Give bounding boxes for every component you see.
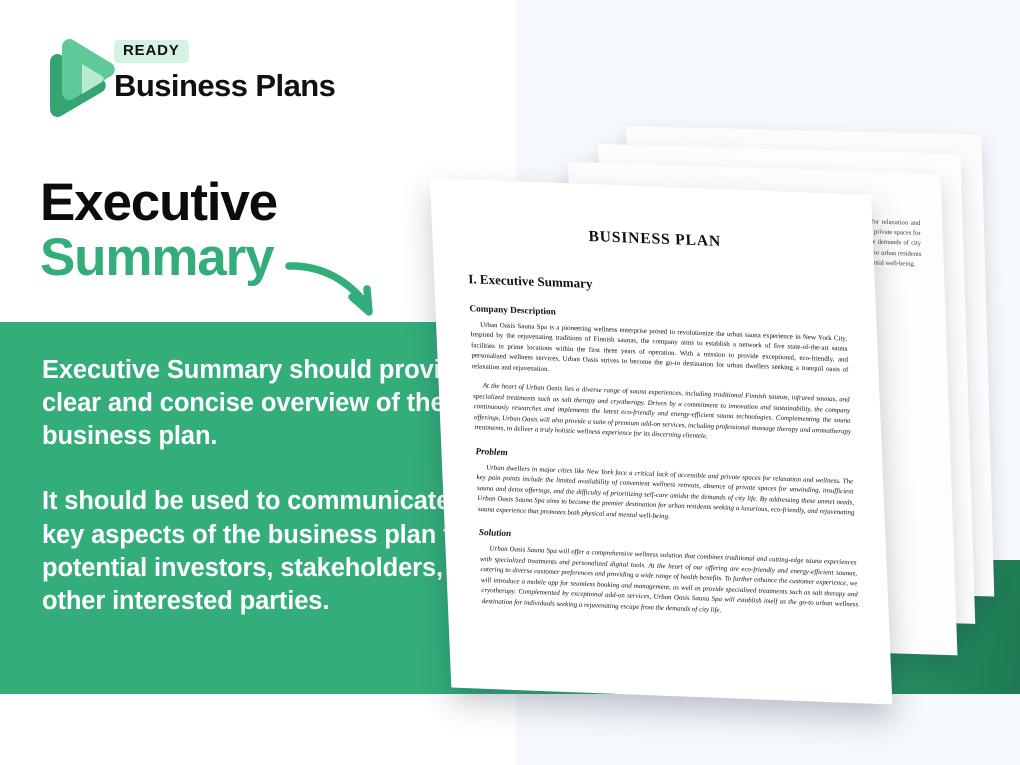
brand-logo-text: READY Business Plans [114,40,335,102]
page-title-line-2: Summary [40,231,277,284]
document-page-content: BUSINESS PLAN I. Executive Summary Compa… [430,178,892,704]
document-paragraph: Urban dwellers in major cities like New … [476,463,855,530]
page-title-line-1: Executive [40,176,277,229]
summary-paragraph-1: Executive Summary should provide a clear… [42,354,497,453]
document-subsection-problem: Problem Urban dwellers in major cities l… [475,446,855,530]
curved-down-right-arrow-icon [283,252,403,332]
business-plan-document-stack[interactable]: Urban Oasis Sauna Spa is a pioneering we… [430,70,1020,710]
document-subsection-solution: Solution Urban Oasis Sauna Spa will offe… [479,527,859,621]
document-subsection-company-description: Company Description Urban Oasis Sauna Sp… [469,303,851,448]
summary-paragraph-2: It should be used to communicate the key… [42,485,497,618]
play-triangle-logo-icon [40,38,116,120]
document-paragraph: Urban Oasis Sauna Spa will offer a compr… [479,544,859,621]
document-paragraph: Urban Oasis Sauna Spa is a pioneering we… [470,320,849,387]
slide-canvas: READY Business Plans Executive Summary E… [0,0,1020,765]
document-paragraph: At the heart of Urban Oasis lies a diver… [473,382,852,449]
brand-logo[interactable]: READY Business Plans [40,36,460,122]
ready-badge: READY [114,40,189,63]
page-title: Executive Summary [40,176,277,284]
document-title: BUSINESS PLAN [466,223,844,255]
document-section-heading: I. Executive Summary [468,271,846,301]
brand-name: Business Plans [114,69,335,102]
summary-description: Executive Summary should provide a clear… [42,354,497,618]
document-page-front[interactable]: BUSINESS PLAN I. Executive Summary Compa… [430,178,892,704]
